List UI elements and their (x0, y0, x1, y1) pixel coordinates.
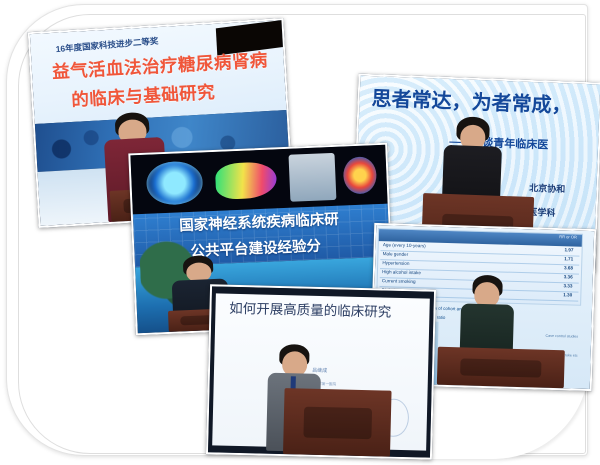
row-value: 1.71 (564, 256, 573, 261)
table-side-note1: Case control studies (546, 334, 579, 339)
row-label: Hypertension (382, 260, 409, 266)
brain-image-strip (130, 145, 387, 214)
podium (283, 388, 391, 457)
clinician-photo-icon (289, 153, 337, 202)
slide-affiliation-line1: 北京协和 (529, 184, 565, 194)
row-value: 1.97 (564, 247, 573, 252)
speaker-photo-high-quality-research[interactable]: 如何开展高质量的临床研究 吕继成 北京大学第一医院 Clinical Resea… (206, 284, 436, 459)
table-column-header: RR or OR (559, 234, 577, 239)
row-value: 1.30 (563, 292, 572, 297)
brain-scan-icon (146, 161, 204, 206)
row-value: 3.33 (563, 283, 572, 288)
photo-scene: 如何开展高质量的临床研究 吕继成 北京大学第一医院 Clinical Resea… (208, 286, 434, 457)
tractography-icon (215, 161, 278, 200)
podium (437, 347, 564, 388)
pet-scan-icon (342, 156, 377, 195)
row-value: 3.68 (564, 265, 573, 270)
row-label: Age (every 10-years) (383, 242, 426, 248)
row-label: Male gender (383, 251, 409, 257)
row-label: Current smoking (382, 278, 416, 284)
collage-stage: 16年度国家科技进步二等奖 益气活血法治疗糖尿病肾病 的临床与基础研究 思者常达… (0, 0, 600, 465)
row-value: 3.36 (564, 274, 573, 279)
row-label: High alcohol intake (382, 269, 421, 275)
